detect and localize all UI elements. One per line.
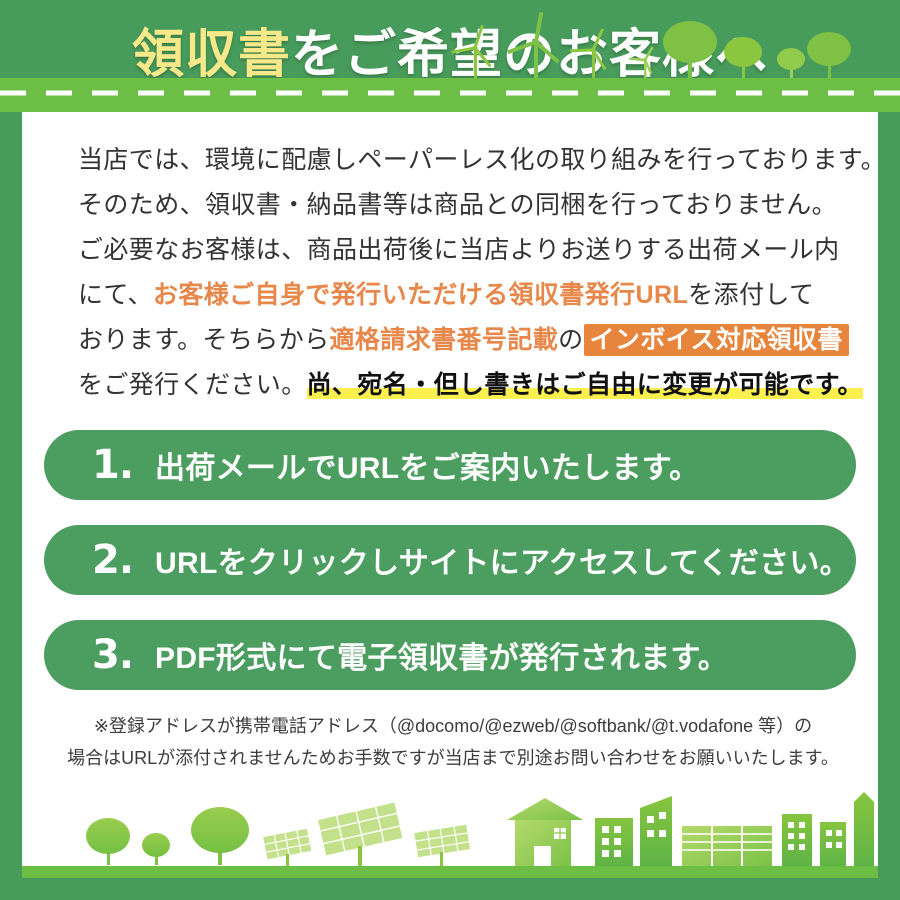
intro-line-5-prefix: おります。そちらから — [78, 326, 330, 354]
step-item-2: 2. URLをクリックしサイトにアクセスしてください。 — [44, 525, 856, 595]
footnote-line-1: ※登録アドレスが携帯電話アドレス（@docomo/@ezweb/@softban… — [40, 710, 866, 742]
invoice-receipt-badge: インボイス対応領収書 — [584, 324, 849, 356]
house-icon — [507, 798, 583, 866]
wind-turbine-4 — [630, 46, 654, 78]
step-item-3: 3. PDF形式にて電子領収書が発行されます。 — [44, 620, 856, 690]
intro-line-4: にて、お客様ご自身で発行いただける領収書発行URLを添付して — [78, 273, 868, 318]
intro-line-1: 当店では、環境に配慮しペーパーレス化の取り組みを行っております。 — [78, 138, 868, 183]
intro-line-4-prefix: にて、 — [78, 281, 153, 309]
intro-line-5-mid: の — [558, 326, 583, 354]
intro-line-5: おります。そちらから適格請求書番号記載のインボイス対応領収書 — [78, 318, 868, 363]
intro-paragraph: 当店では、環境に配慮しペーパーレス化の取り組みを行っております。 そのため、領収… — [78, 138, 868, 408]
step-number-3: 3. — [92, 635, 133, 675]
receipt-url-emphasis: お客様ご自身で発行いただける領収書発行URL — [153, 281, 688, 309]
intro-line-2: そのため、領収書・納品書等は商品との同梱を行っておりません。 — [78, 183, 868, 228]
content-card: 当店では、環境に配慮しペーパーレス化の取り組みを行っております。 そのため、領収… — [22, 110, 878, 788]
skyline-svg — [22, 788, 878, 878]
eco-city-illustration — [22, 788, 878, 878]
road-band — [0, 78, 900, 112]
road-and-right-scene — [0, 0, 900, 112]
wind-turbine-group — [451, 12, 653, 78]
intro-line-6-prefix: をご発行ください。 — [78, 371, 307, 399]
tree-group-left — [86, 807, 249, 865]
wind-turbine-3 — [570, 29, 606, 78]
building-cluster-right — [782, 792, 874, 866]
tree-group-right — [663, 21, 851, 78]
footnote-line-2: 場合はURLが添付されませんためお手数ですが当店まで別途お問い合わせをお願いいた… — [40, 742, 866, 774]
receipt-info-banner: 領収書をご希望のお客様へ 当店では、環境に配慮しペーパーレス化の取り組みを行って… — [0, 0, 900, 900]
step-item-1: 1. 出荷メールでURLをご案内いたします。 — [44, 430, 856, 500]
invoice-number-emphasis: 適格請求書番号記載 — [330, 326, 559, 354]
wind-turbine-2 — [507, 12, 560, 78]
wind-turbine-1 — [451, 25, 491, 78]
step-number-2: 2. — [92, 540, 133, 580]
step-label-3: PDF形式にて電子領収書が発行されます。 — [155, 633, 728, 677]
intro-line-3: ご必要なお客様は、商品出荷後に当店よりお送りする出荷メール内 — [78, 228, 868, 273]
footnote: ※登録アドレスが携帯電話アドレス（@docomo/@ezweb/@softban… — [40, 710, 866, 774]
intro-line-4-suffix: を添付して — [688, 281, 814, 309]
intro-line-6: をご発行ください。尚、宛名・但し書きはご自由に変更が可能です。 — [78, 363, 868, 408]
step-label-2: URLをクリックしサイトにアクセスしてください。 — [155, 538, 850, 582]
building-cluster-mid — [595, 796, 772, 866]
step-number-1: 1. — [92, 445, 133, 485]
step-label-1: 出荷メールでURLをご案内いたします。 — [155, 443, 699, 487]
editable-note-highlight: 尚、宛名・但し書きはご自由に変更が可能です。 — [307, 371, 863, 399]
